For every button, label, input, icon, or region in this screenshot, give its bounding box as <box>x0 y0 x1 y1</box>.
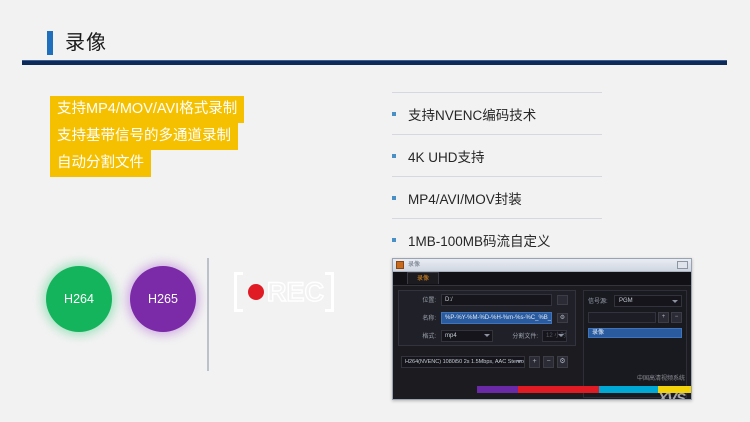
list-item: 1MB-100MB码流自定义 <box>392 218 602 260</box>
rec-logo-text: REC <box>267 278 324 306</box>
codec-row: H264(NVENC) 1080i50 2s 1.5Mbps, AAC Ster… <box>398 356 576 369</box>
highlight-item: 支持MP4/MOV/AVI格式录制 <box>50 96 244 123</box>
source-label: 信号源: <box>588 298 608 307</box>
feature-list: 支持NVENC编码技术 4K UHD支持 MP4/AVI/MOV封装 1MB-1… <box>392 92 602 260</box>
brand-watermark: XVS <box>658 390 685 400</box>
record-dot-icon <box>248 284 264 300</box>
source-row: 信号源: PGM <box>588 295 682 309</box>
source-add-button[interactable]: + <box>658 312 669 323</box>
page-title: 录像 <box>65 30 107 56</box>
vertical-divider <box>207 258 209 371</box>
app-logo-icon <box>396 261 404 269</box>
codec-badge-label: H264 <box>64 292 94 306</box>
rec-logo: REC <box>234 272 334 312</box>
split-label: 分割文件: <box>500 333 538 342</box>
bullet-square-icon <box>392 196 396 200</box>
app-body: 录像 位置: D:/ 名称: %P-%Y-%M-%D-%H-%m-%s-%C_%… <box>393 272 691 400</box>
chevron-down-icon <box>558 334 564 337</box>
color-bar-cyan <box>599 386 658 393</box>
source-add-row: + − <box>588 312 682 325</box>
highlight-item: 自动分割文件 <box>50 150 151 177</box>
app-screenshot: 录像 录像 位置: D:/ 名称: <box>392 258 692 400</box>
codec-select-value: H264(NVENC) 1080i50 2s 1.5Mbps, AAC Ster… <box>405 359 525 365</box>
codec-badge-h265: H265 <box>130 266 196 332</box>
name-input[interactable]: %P-%Y-%M-%D-%H-%m-%s-%C_%B_%R <box>441 312 552 324</box>
feature-label: 1MB-100MB码流自定义 <box>408 230 551 250</box>
app-tabbar: 录像 <box>393 272 691 286</box>
add-codec-button[interactable]: + <box>529 356 540 368</box>
feature-label: 支持NVENC编码技术 <box>408 104 536 124</box>
split-select[interactable]: 12 小时 <box>542 330 567 342</box>
bullet-square-icon <box>392 112 396 116</box>
codec-settings-gear-icon[interactable]: ⚙ <box>557 356 568 368</box>
bullet-square-icon <box>392 238 396 242</box>
location-label: 位置: <box>404 297 436 306</box>
color-bar-red <box>518 386 599 393</box>
source-select-value: PGM <box>619 298 633 304</box>
app-main: 位置: D:/ 名称: %P-%Y-%M-%D-%H-%m-%s-%C_%B_%… <box>393 286 691 400</box>
name-row: 名称: %P-%Y-%M-%D-%H-%m-%s-%C_%B_%R ⚙ <box>404 312 570 327</box>
list-item: 支持NVENC编码技术 <box>392 92 602 134</box>
source-select[interactable]: PGM <box>614 295 682 307</box>
highlight-list: 支持MP4/MOV/AVI格式录制 支持基带信号的多通道录制 自动分割文件 <box>50 96 320 177</box>
tab-recording[interactable]: 录像 <box>407 272 439 284</box>
recording-form: 位置: D:/ 名称: %P-%Y-%M-%D-%H-%m-%s-%C_%B_%… <box>398 290 576 346</box>
remove-codec-button[interactable]: − <box>543 356 554 368</box>
bracket-right-icon <box>325 272 334 312</box>
app-watermark-text: 中国高清视频系统 <box>637 373 685 382</box>
app-titlebar: 录像 <box>393 259 691 272</box>
color-bar-purple <box>477 386 518 393</box>
format-select[interactable]: mp4 <box>441 330 493 342</box>
maximize-button[interactable] <box>677 261 688 269</box>
list-item: MP4/AVI/MOV封装 <box>392 176 602 218</box>
title-accent-bar <box>47 31 53 55</box>
header-divider <box>22 60 727 65</box>
location-row: 位置: D:/ <box>404 294 570 309</box>
chevron-down-icon <box>672 300 678 303</box>
bullet-square-icon <box>392 154 396 158</box>
list-item: 4K UHD支持 <box>392 134 602 176</box>
highlight-item: 支持基带信号的多通道录制 <box>50 123 238 150</box>
format-select-value: mp4 <box>445 333 457 339</box>
recording-settings-panel: 位置: D:/ 名称: %P-%Y-%M-%D-%H-%m-%s-%C_%B_%… <box>398 290 576 398</box>
app-window-title: 录像 <box>408 260 420 270</box>
codec-select[interactable]: H264(NVENC) 1080i50 2s 1.5Mbps, AAC Ster… <box>401 356 525 368</box>
format-label: 格式: <box>404 333 436 342</box>
list-item[interactable]: 录像 <box>588 328 682 338</box>
feature-label: MP4/AVI/MOV封装 <box>408 188 522 208</box>
format-row: 格式: mp4 分割文件: 12 小时 <box>404 330 570 345</box>
name-label: 名称: <box>404 315 436 324</box>
browse-folder-button[interactable] <box>557 295 568 305</box>
slide-root: 录像 支持MP4/MOV/AVI格式录制 支持基带信号的多通道录制 自动分割文件… <box>0 0 750 422</box>
chevron-down-icon <box>484 334 490 337</box>
feature-label: 4K UHD支持 <box>408 146 485 166</box>
codec-badge-h264: H264 <box>46 266 112 332</box>
codec-badge-label: H265 <box>148 292 178 306</box>
source-remove-button[interactable]: − <box>671 312 682 323</box>
source-name-input[interactable] <box>588 312 656 323</box>
chevron-down-icon <box>516 360 522 363</box>
location-input[interactable]: D:/ <box>441 294 552 306</box>
name-settings-gear-icon[interactable]: ⚙ <box>557 313 568 323</box>
bracket-left-icon <box>234 272 243 312</box>
